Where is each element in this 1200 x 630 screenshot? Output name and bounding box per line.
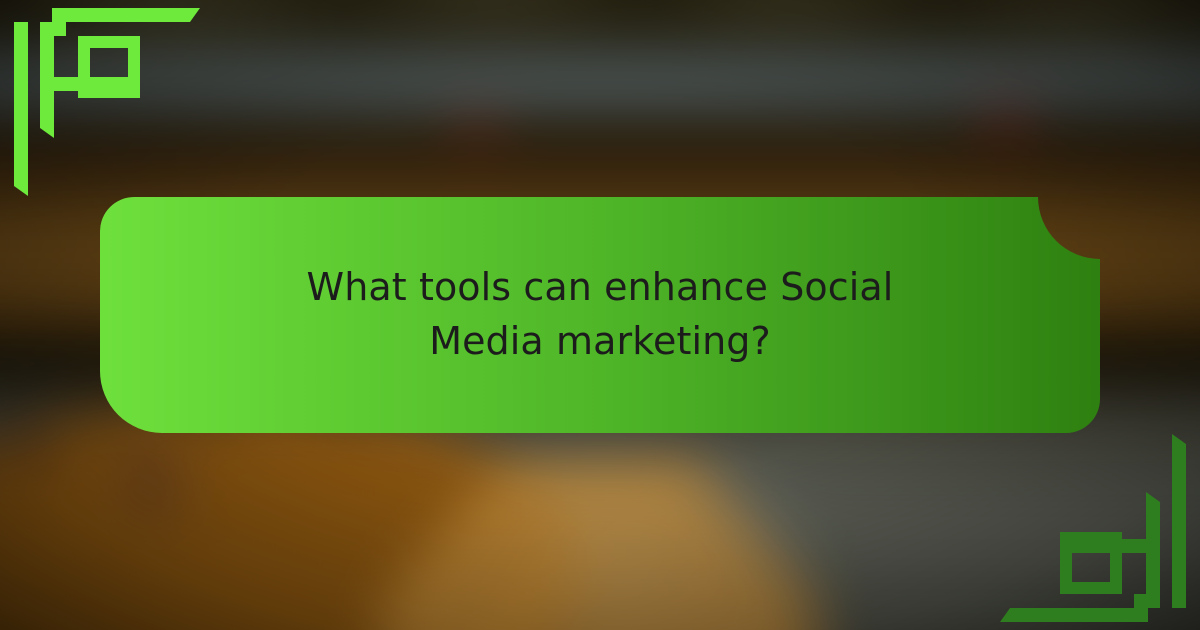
share-card-canvas: What tools can enhance Social Media mark… [0,0,1200,630]
headline-card: What tools can enhance Social Media mark… [100,197,1100,433]
page-title: What tools can enhance Social Media mark… [250,261,950,369]
